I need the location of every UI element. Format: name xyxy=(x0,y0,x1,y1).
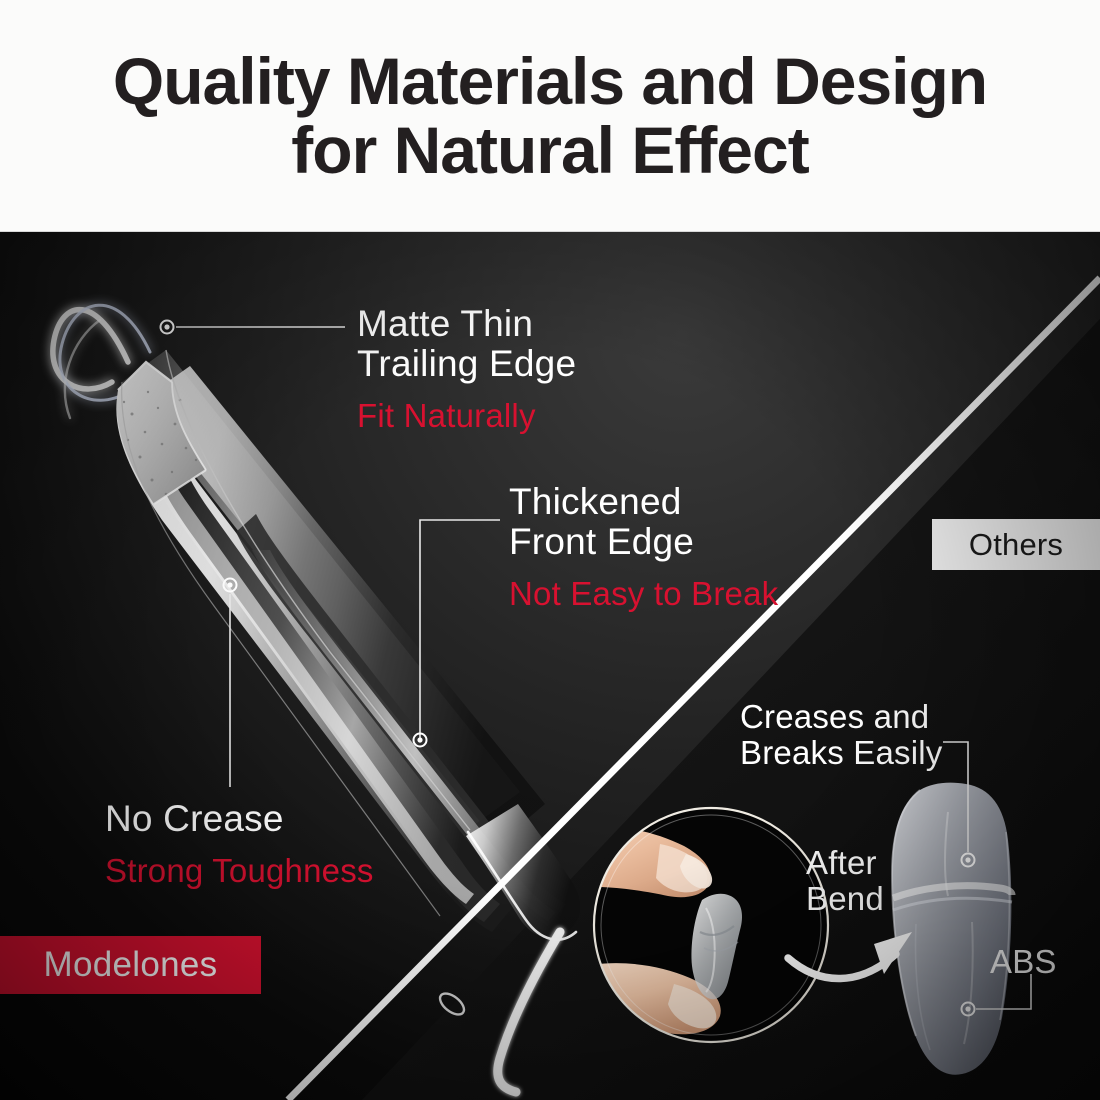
header-banner: Quality Materials and Design for Natural… xyxy=(0,0,1100,232)
stage-vignette xyxy=(0,232,1100,1100)
page-title: Quality Materials and Design for Natural… xyxy=(20,47,1080,184)
page-title-line-2: for Natural Effect xyxy=(20,116,1080,185)
infographic-page: Quality Materials and Design for Natural… xyxy=(0,0,1100,1100)
page-title-line-1: Quality Materials and Design xyxy=(113,44,987,118)
comparison-stage: Matte Thin Trailing Edge Fit Naturally T… xyxy=(0,232,1100,1100)
